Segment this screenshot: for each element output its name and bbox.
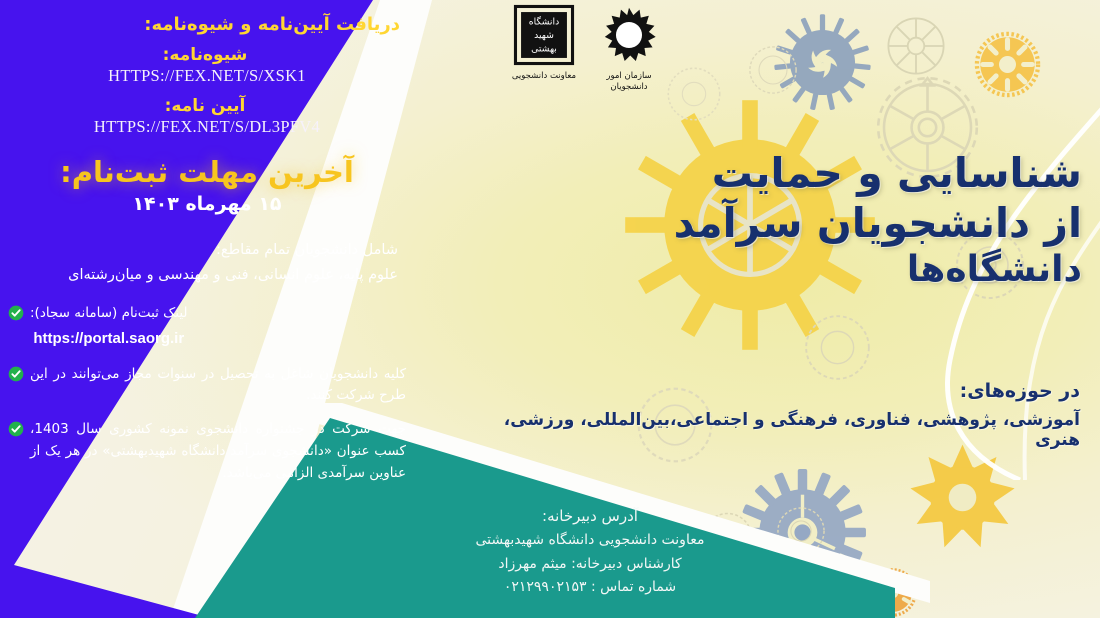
title-line-1: شناسایی و حمایت xyxy=(542,148,1082,198)
bullet-text: کلیه دانشجویان شاغل به تحصیل در سنوات مج… xyxy=(30,364,406,408)
secretariat-block: آدرس دبیرخانه: معاونت دانشجویی دانشگاه ش… xyxy=(390,504,790,600)
logo-caption: سازمان اموردانشجویان xyxy=(606,71,651,94)
list-item: جهت شرکت در جشنواره دانشجوی نمونه کشوری … xyxy=(8,419,406,485)
list-item: لینک ثبت‌نام (سامانه سجاد): https://port… xyxy=(8,303,406,351)
check-circle-icon xyxy=(8,366,24,382)
secretariat-line-1: معاونت دانشجویی دانشگاه شهیدبهشتی xyxy=(390,529,790,553)
check-circle-icon xyxy=(8,305,24,321)
fields-body: آموزشی، پژوهشی، فناوری، فرهنگی و اجتماعی… xyxy=(460,410,1080,450)
includes-line-2: علوم پایه، علوم انسانی، فنی و مهندسی و م… xyxy=(8,264,398,287)
fields-heading: در حوزه‌های: xyxy=(460,380,1080,402)
student-affairs-organization-logo: سازمان اموردانشجویان xyxy=(598,4,660,94)
regulation-label: آیین نامه: xyxy=(8,96,402,116)
svg-text:شهید: شهید xyxy=(534,30,554,41)
gear-icon xyxy=(738,35,808,105)
method-label: شیوه‌نامه: xyxy=(8,45,402,65)
logo-caption: معاونت دانشجویی xyxy=(512,71,576,82)
gear-icon xyxy=(655,55,733,133)
starburst-icon xyxy=(598,4,660,66)
secretariat-line-2: کارشناس دبیرخانه: میثم مهرزاد xyxy=(390,553,790,577)
secretariat-phone: شماره تماس : ۰۲۱۲۹۹۰۲۱۵۳ xyxy=(390,576,790,600)
fields-section: در حوزه‌های: آموزشی، پژوهشی، فناوری، فره… xyxy=(460,380,1080,450)
main-title: شناسایی و حمایت از دانشجویان سرآمد دانشگ… xyxy=(542,148,1082,292)
shahid-beheshti-university-logo: دانشگاه شهید بهشتی معاونت دانشجویی xyxy=(512,4,576,82)
university-seal-icon: دانشگاه شهید بهشتی xyxy=(513,4,575,66)
bullet-text: جهت شرکت در جشنواره دانشجوی نمونه کشوری … xyxy=(30,419,406,485)
left-info-panel: دریافت آیین‌نامه و شیوه‌نامه: شیوه‌نامه:… xyxy=(0,0,420,618)
includes-line-1: شامل دانشجویان تمام مقاطع: xyxy=(8,239,398,262)
download-heading: دریافت آیین‌نامه و شیوه‌نامه: xyxy=(8,14,400,35)
bullet-list: لینک ثبت‌نام (سامانه سجاد): https://port… xyxy=(8,303,406,484)
regulation-url[interactable]: HTTPS://FEX.NET/S/DL3PFV4 xyxy=(8,117,406,137)
svg-text:بهشتی: بهشتی xyxy=(531,44,557,55)
registration-link[interactable]: https://portal.saorg.ir xyxy=(30,327,188,351)
deadline-heading: آخرین مهلت ثبت‌نام: xyxy=(8,155,406,189)
check-circle-icon xyxy=(8,421,24,437)
deadline-date: ۱۵ مهرماه ۱۴۰۳ xyxy=(8,193,406,215)
list-item: کلیه دانشجویان شاغل به تحصیل در سنوات مج… xyxy=(8,364,406,408)
title-line-2: از دانشجویان سرآمد xyxy=(542,198,1082,248)
method-url[interactable]: HTTPS://FEX.NET/S/XSK1 xyxy=(8,66,406,86)
secretariat-title: آدرس دبیرخانه: xyxy=(390,504,790,529)
logo-row: سازمان اموردانشجویان دانشگاه شهید بهشتی … xyxy=(425,4,660,114)
svg-text:دانشگاه: دانشگاه xyxy=(529,15,559,27)
title-line-3: دانشگاه‌ها xyxy=(542,248,1082,292)
bullet-text: لینک ثبت‌نام (سامانه سجاد): xyxy=(30,305,188,321)
poster: سازمان اموردانشجویان دانشگاه شهید بهشتی … xyxy=(0,0,1100,618)
